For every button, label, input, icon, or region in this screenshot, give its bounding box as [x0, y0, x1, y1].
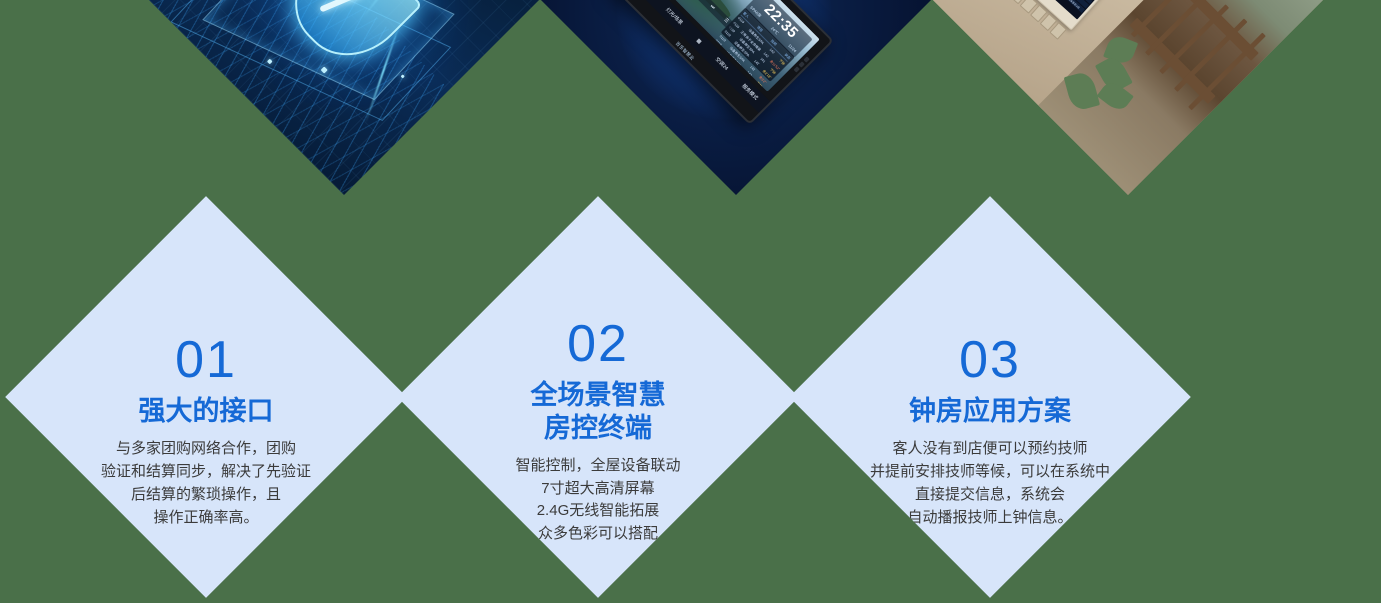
feature-diamond-banner: CSI280 沙漠雨林 22:35 SPA6房 24℃ [0, 0, 1381, 603]
card-title-01: 强大的接口 [139, 395, 274, 428]
railing-post [1174, 18, 1248, 92]
card-body-02: 02 全场景智慧 房控终端 智能控制，全屋设备联动 7寸超大高清屏幕 2.4G无… [397, 318, 799, 546]
plant-leaf [1064, 70, 1100, 111]
next-icon[interactable]: ⏭ [709, 4, 716, 11]
feature-card-03[interactable]: 03 钟房应用方案 客人没有到店便可以预约技师 并提前安排技师等候，可以在系统中… [789, 196, 1191, 598]
card-number-03: 03 [959, 334, 1021, 386]
card-number-01: 01 [175, 334, 237, 386]
image-diamond-security [149, 0, 539, 195]
action-aircon[interactable]: 空调24 [714, 56, 730, 72]
cyber-security-shield-circuit-board-image [149, 0, 539, 195]
card-body-01: 01 强大的接口 与多家团购网络合作，团购 验证和结算同步，解决了先验证 后结算… [5, 334, 407, 529]
feature-card-02[interactable]: 02 全场景智慧 房控终端 智能控制，全屋设备联动 7寸超大高清屏幕 2.4G无… [397, 196, 799, 598]
card-title-03: 钟房应用方案 [909, 395, 1071, 428]
apps-grid-icon[interactable]: ▦ [695, 38, 703, 46]
railing-post [1188, 32, 1266, 110]
card-description-01: 与多家团购网络合作，团购 验证和结算同步，解决了先验证 后结算的繁琐操作，且 操… [101, 438, 311, 529]
action-service-mode[interactable]: 服务模式 [740, 83, 759, 102]
list-icon[interactable]: ☰ [722, 17, 729, 24]
image-diamond-terminal: CSI280 沙漠雨林 22:35 SPA6房 24℃ [541, 0, 931, 195]
image-diamond-room: 点 钟 〈ACL钟 面 钟 停钟记录 选 钟 技师列表 技师排班 统计 [933, 0, 1323, 195]
card-description-02: 智能控制，全屋设备联动 7寸超大高清屏幕 2.4G无线智能拓展 众多色彩可以搭配 [515, 455, 680, 546]
card-body-03: 03 钟房应用方案 客人没有到店便可以预约技师 并提前安排技师等候，可以在系统中… [789, 334, 1191, 529]
room-control-tablet-terminal-image: CSI280 沙漠雨林 22:35 SPA6房 24℃ [541, 0, 931, 195]
action-light-scene[interactable]: 灯光/场景 [664, 7, 684, 27]
card-title-02: 全场景智慧 房控终端 [531, 379, 666, 445]
card-number-02: 02 [567, 318, 629, 370]
wall-mounted-control-panel-room-image: 点 钟 〈ACL钟 面 钟 停钟记录 选 钟 技师列表 技师排班 统计 [933, 0, 1323, 195]
card-description-03: 客人没有到店便可以预约技师 并提前安排技师等候，可以在系统中 直接提交信息，系统… [870, 438, 1110, 529]
railing-post [1159, 4, 1229, 74]
feature-card-01[interactable]: 01 强大的接口 与多家团购网络合作，团购 验证和结算同步，解决了先验证 后结算… [5, 196, 407, 598]
